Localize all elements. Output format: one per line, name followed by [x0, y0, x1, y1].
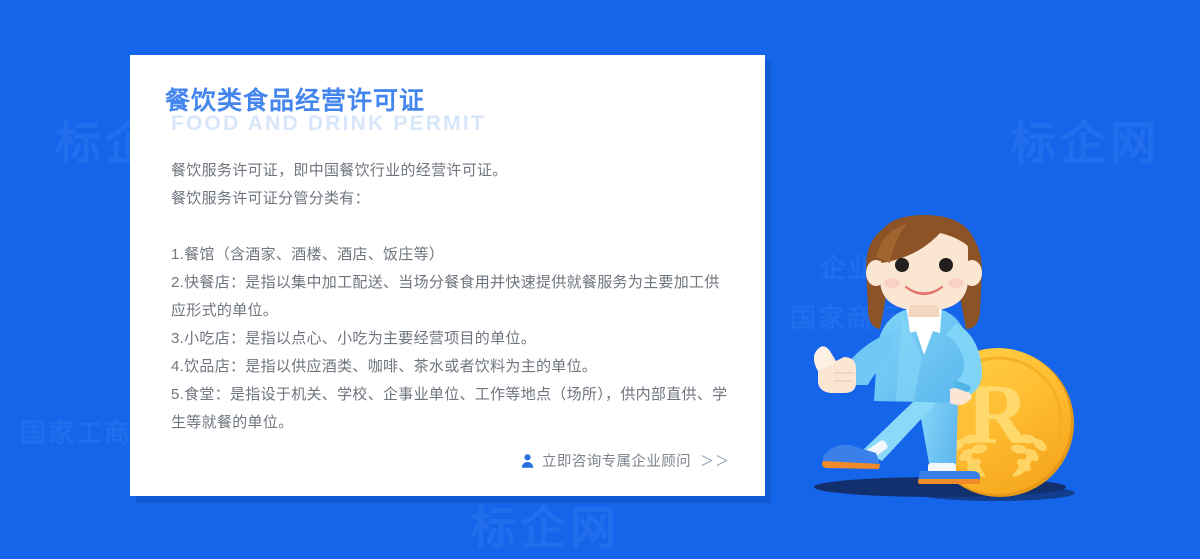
list-item: 4.饮品店：是指以供应酒类、咖啡、茶水或者饮料为主的单位。 [171, 353, 731, 381]
page-title: 餐饮类食品经营许可证 FOOD AND DRINK PERMIT [165, 86, 425, 142]
user-icon [520, 453, 535, 469]
list-item: 2.快餐店：是指以集中加工配送、当场分餐食用并快速提供就餐服务为主要加工供应形式… [171, 269, 731, 325]
eye-right [939, 258, 953, 272]
list-item: 5.食堂：是指设于机关、学校、企事业单位、工作等地点（场所），供内部直供、学生等… [171, 381, 731, 437]
intro-line: 餐饮服务许可证，即中国餐饮行业的经营许可证。 [171, 157, 731, 185]
list-item: 1.餐馆（含酒家、酒楼、酒店、饭庄等） [171, 241, 731, 269]
list-item: 3.小吃店：是指以点心、小吃为主要经营项目的单位。 [171, 325, 731, 353]
page-title-chinese: 餐饮类食品经营许可证 [165, 86, 425, 116]
paragraph-spacer [171, 213, 731, 241]
businesswoman-with-coin-illustration: R [790, 205, 1080, 515]
watermark-text: 标企网 [470, 505, 620, 551]
consult-advisor-label: 立即咨询专属企业顾问 [542, 450, 691, 471]
chevron-double-right-icon: ＞＞ [700, 451, 730, 471]
head [866, 215, 982, 329]
watermark-text: 国家工商 [20, 420, 132, 446]
watermark-text: 标企网 [1010, 120, 1160, 166]
consult-advisor-link[interactable]: 立即咨询专属企业顾问 ＞＞ [520, 450, 730, 471]
intro-line: 餐饮服务许可证分管分类有： [171, 185, 731, 213]
content-card: 餐饮类食品经营许可证 FOOD AND DRINK PERMIT 餐饮服务许可证… [130, 55, 765, 496]
eye-left [895, 258, 909, 272]
card-body: 餐饮服务许可证，即中国餐饮行业的经营许可证。 餐饮服务许可证分管分类有： 1.餐… [171, 157, 731, 437]
